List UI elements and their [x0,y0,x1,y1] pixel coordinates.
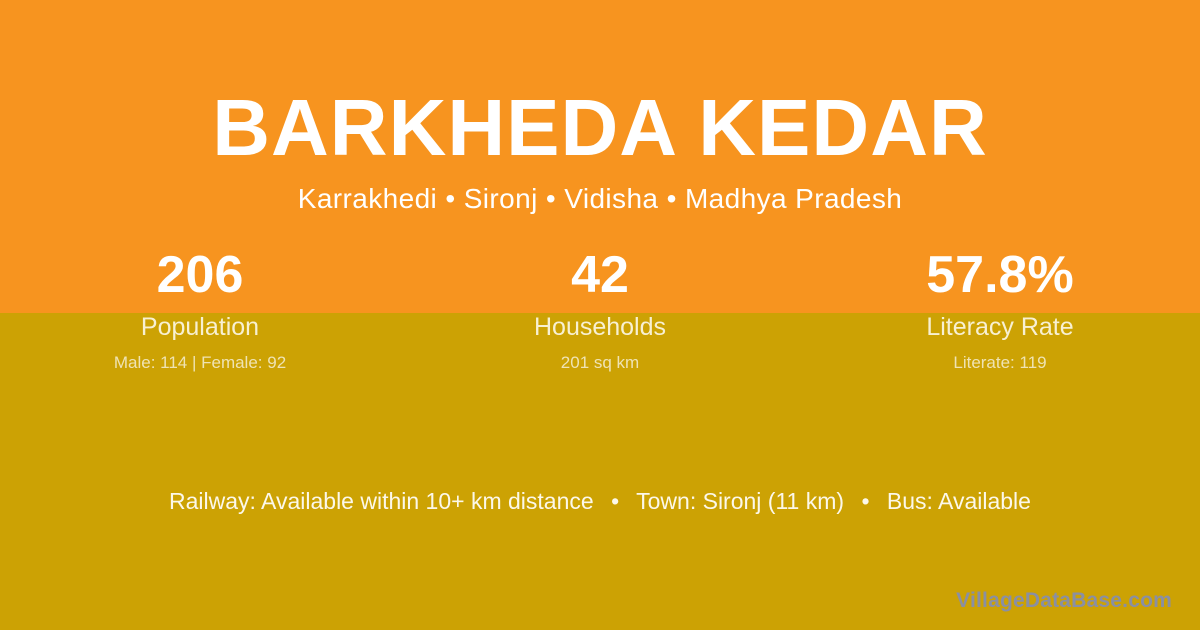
stat-value: 42 [400,244,800,306]
facility-separator-icon: • [600,486,630,516]
stat-literacy-rate: 57.8% Literacy Rate Literate: 119 [800,244,1200,374]
facility-summary: Railway: Available within 10+ km distanc… [0,486,1200,516]
facility-town: Town: Sironj (11 km) [636,488,844,514]
stats-row: 206 Population Male: 114 | Female: 92 42… [0,244,1200,374]
stat-households: 42 Households 201 sq km [400,244,800,374]
stat-label: Households [400,312,800,342]
stat-sub-detail: Male: 114 | Female: 92 [0,352,400,374]
breadcrumb: Karrakhedi • Sironj • Vidisha • Madhya P… [0,180,1200,218]
stat-label: Literacy Rate [800,312,1200,342]
facility-bus: Bus: Available [887,488,1031,514]
stat-population: 206 Population Male: 114 | Female: 92 [0,244,400,374]
site-watermark: VillageDataBase.com [956,588,1172,614]
stat-sub-detail: 201 sq km [400,352,800,374]
page-title: BARKHEDA KEDAR [0,82,1200,174]
stat-sub-detail: Literate: 119 [800,352,1200,374]
village-info-card: BARKHEDA KEDAR Karrakhedi • Sironj • Vid… [0,0,1200,630]
stat-label: Population [0,312,400,342]
stat-value: 57.8% [800,244,1200,306]
facility-separator-icon: • [850,486,880,516]
stat-value: 206 [0,244,400,306]
card-content: BARKHEDA KEDAR Karrakhedi • Sironj • Vid… [0,0,1200,630]
facility-railway: Railway: Available within 10+ km distanc… [169,488,594,514]
